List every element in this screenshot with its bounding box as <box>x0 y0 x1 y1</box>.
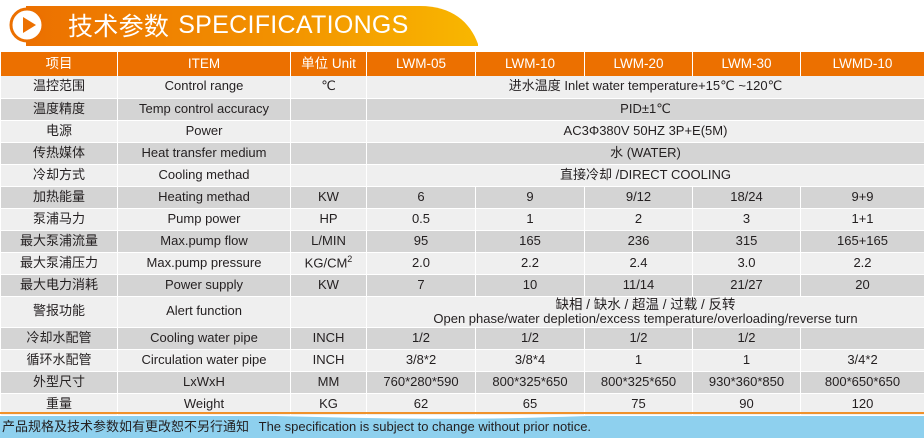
row-value-lwm-10: 165 <box>476 230 585 252</box>
row-label-cn: 最大泵浦流量 <box>1 230 118 252</box>
row-value-lwm-05: 760*280*590 <box>367 371 476 393</box>
table-row: 泵浦马力Pump powerHP0.51231+1 <box>1 208 924 230</box>
row-value-lwm-20: 11/14 <box>585 274 693 296</box>
specifications-page: 技术参数 SPECIFICATIONGS 项目 ITEM 单位 Unit LWM… <box>0 0 924 438</box>
row-label-cn: 外型尺寸 <box>1 371 118 393</box>
row-value-lwmd-10: 165+165 <box>801 230 924 252</box>
row-label-en: Pump power <box>118 208 291 230</box>
row-value-lwm-20: 1 <box>585 349 693 371</box>
footer-note-cn: 产品规格及技术参数如有更改恕不另行通知 <box>2 419 249 434</box>
row-alert-value: 缺相 / 缺水 / 超温 / 过载 / 反转Open phase/water d… <box>367 296 924 327</box>
row-value-lwmd-10: 3/4*2 <box>801 349 924 371</box>
row-unit: MM <box>291 371 367 393</box>
table-row: 温度精度Temp control accuracyPID±1℃ <box>1 98 924 120</box>
specifications-table: 项目 ITEM 单位 Unit LWM-05 LWM-10 LWM-20 LWM… <box>0 52 924 416</box>
row-unit: KW <box>291 186 367 208</box>
row-value-lwm-20: 2.4 <box>585 252 693 274</box>
col-header-item: ITEM <box>118 52 291 76</box>
row-value-lwm-30: 18/24 <box>693 186 801 208</box>
table-row: 警报功能Alert function缺相 / 缺水 / 超温 / 过载 / 反转… <box>1 296 924 327</box>
row-label-en: Control range <box>118 76 291 98</box>
table-row: 冷却方式Cooling methad直接冷却 /DIRECT COOLING <box>1 164 924 186</box>
row-value-lwm-05: 95 <box>367 230 476 252</box>
row-value-lwm-05: 3/8*2 <box>367 349 476 371</box>
col-header-lwm-10: LWM-10 <box>476 52 585 76</box>
row-value-lwm-20: 9/12 <box>585 186 693 208</box>
row-unit: ℃ <box>291 76 367 98</box>
row-value-lwm-10: 2.2 <box>476 252 585 274</box>
row-value-lwmd-10: 20 <box>801 274 924 296</box>
row-label-en: Power <box>118 120 291 142</box>
section-banner: 技术参数 SPECIFICATIONGS <box>0 0 500 50</box>
row-value-lwm-30: 3.0 <box>693 252 801 274</box>
row-label-cn: 冷却方式 <box>1 164 118 186</box>
row-merged-value: PID±1℃ <box>367 98 924 120</box>
banner-title-en: SPECIFICATIONGS <box>178 11 408 40</box>
col-header-lwmd-10: LWMD-10 <box>801 52 924 76</box>
row-unit: INCH <box>291 327 367 349</box>
row-unit: HP <box>291 208 367 230</box>
row-value-lwm-10: 1 <box>476 208 585 230</box>
row-value-lwm-05: 1/2 <box>367 327 476 349</box>
row-value-lwm-10: 1/2 <box>476 327 585 349</box>
row-label-en: Circulation water pipe <box>118 349 291 371</box>
row-value-lwm-30: 21/27 <box>693 274 801 296</box>
row-label-en: Cooling methad <box>118 164 291 186</box>
row-label-cn: 最大泵浦压力 <box>1 252 118 274</box>
col-header-lwm-05: LWM-05 <box>367 52 476 76</box>
row-unit <box>291 120 367 142</box>
banner-title: 技术参数 SPECIFICATIONGS <box>68 6 409 44</box>
row-label-en: Temp control accuracy <box>118 98 291 120</box>
row-value-lwm-10: 10 <box>476 274 585 296</box>
row-value-lwm-05: 2.0 <box>367 252 476 274</box>
row-value-lwm-30: 315 <box>693 230 801 252</box>
row-value-lwmd-10: 9+9 <box>801 186 924 208</box>
table-row: 冷却水配管Cooling water pipeINCH1/21/21/21/2 <box>1 327 924 349</box>
table-row: 循环水配管Circulation water pipeINCH3/8*23/8*… <box>1 349 924 371</box>
table-row: 温控范围Control range℃进水温度 Inlet water tempe… <box>1 76 924 98</box>
row-value-lwm-30: 1 <box>693 349 801 371</box>
footer-divider <box>0 412 924 414</box>
row-label-cn: 电源 <box>1 120 118 142</box>
row-label-en: Alert function <box>118 296 291 327</box>
table-row: 加热能量Heating methadKW699/1218/249+9 <box>1 186 924 208</box>
row-label-cn: 警报功能 <box>1 296 118 327</box>
row-value-lwm-10: 800*325*650 <box>476 371 585 393</box>
row-label-en: Max.pump flow <box>118 230 291 252</box>
row-value-lwm-10: 9 <box>476 186 585 208</box>
row-label-cn: 传热媒体 <box>1 142 118 164</box>
row-unit <box>291 98 367 120</box>
table-row: 外型尺寸LxWxHMM760*280*590800*325*650800*325… <box>1 371 924 393</box>
row-unit <box>291 296 367 327</box>
row-merged-value: AC3Φ380V 50HZ 3P+E(5M) <box>367 120 924 142</box>
table-row: 电源PowerAC3Φ380V 50HZ 3P+E(5M) <box>1 120 924 142</box>
row-unit <box>291 142 367 164</box>
row-label-cn: 加热能量 <box>1 186 118 208</box>
row-label-cn: 循环水配管 <box>1 349 118 371</box>
row-label-en: Heat transfer medium <box>118 142 291 164</box>
row-label-cn: 温控范围 <box>1 76 118 98</box>
row-value-lwmd-10 <box>801 327 924 349</box>
row-merged-value: 水 (WATER) <box>367 142 924 164</box>
row-value-lwm-10: 3/8*4 <box>476 349 585 371</box>
table-row: 最大电力消耗Power supplyKW71011/1421/2720 <box>1 274 924 296</box>
row-value-lwmd-10: 1+1 <box>801 208 924 230</box>
row-unit: KW <box>291 274 367 296</box>
row-label-en: Max.pump pressure <box>118 252 291 274</box>
row-merged-value: 进水温度 Inlet water temperature+15℃ ~120℃ <box>367 76 924 98</box>
col-header-lwm-20: LWM-20 <box>585 52 693 76</box>
row-value-lwm-20: 2 <box>585 208 693 230</box>
play-circle-icon <box>8 6 46 44</box>
col-header-unit: 单位 Unit <box>291 52 367 76</box>
footer-note: 产品规格及技术参数如有更改恕不另行通知 The specification is… <box>2 416 591 435</box>
row-label-en: Power supply <box>118 274 291 296</box>
row-label-en: Cooling water pipe <box>118 327 291 349</box>
row-label-cn: 冷却水配管 <box>1 327 118 349</box>
row-value-lwmd-10: 800*650*650 <box>801 371 924 393</box>
row-unit: KG/CM2 <box>291 252 367 274</box>
table-row: 最大泵浦压力Max.pump pressureKG/CM22.02.22.43.… <box>1 252 924 274</box>
table-header-row: 项目 ITEM 单位 Unit LWM-05 LWM-10 LWM-20 LWM… <box>1 52 924 76</box>
row-merged-value: 直接冷却 /DIRECT COOLING <box>367 164 924 186</box>
row-label-en: LxWxH <box>118 371 291 393</box>
row-unit <box>291 164 367 186</box>
table-row: 传热媒体Heat transfer medium水 (WATER) <box>1 142 924 164</box>
col-header-project: 项目 <box>1 52 118 76</box>
row-value-lwm-30: 1/2 <box>693 327 801 349</box>
row-value-lwmd-10: 2.2 <box>801 252 924 274</box>
row-value-lwm-20: 236 <box>585 230 693 252</box>
row-value-lwm-05: 7 <box>367 274 476 296</box>
table-row: 最大泵浦流量Max.pump flowL/MIN95165236315165+1… <box>1 230 924 252</box>
footer-note-en: The specification is subject to change w… <box>259 419 591 434</box>
row-label-cn: 最大电力消耗 <box>1 274 118 296</box>
col-header-lwm-30: LWM-30 <box>693 52 801 76</box>
row-label-en: Heating methad <box>118 186 291 208</box>
banner-title-cn: 技术参数 <box>68 7 169 43</box>
row-value-lwm-30: 3 <box>693 208 801 230</box>
alert-text-cn: 缺相 / 缺水 / 超温 / 过载 / 反转 <box>369 297 922 313</box>
row-value-lwm-20: 1/2 <box>585 327 693 349</box>
row-value-lwm-20: 800*325*650 <box>585 371 693 393</box>
alert-text-en: Open phase/water depletion/excess temper… <box>369 312 922 327</box>
row-value-lwm-05: 6 <box>367 186 476 208</box>
row-label-cn: 温度精度 <box>1 98 118 120</box>
row-value-lwm-30: 930*360*850 <box>693 371 801 393</box>
row-unit: L/MIN <box>291 230 367 252</box>
row-unit: INCH <box>291 349 367 371</box>
row-value-lwm-05: 0.5 <box>367 208 476 230</box>
row-label-cn: 泵浦马力 <box>1 208 118 230</box>
